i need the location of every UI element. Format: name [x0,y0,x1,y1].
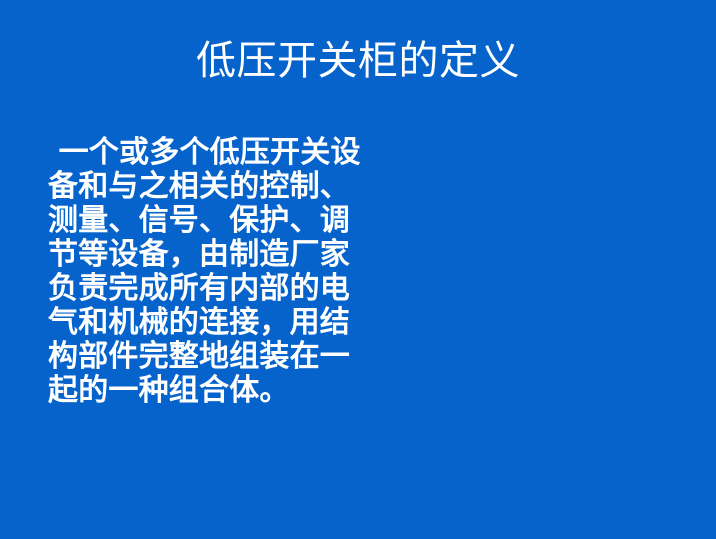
body-line: 构部件完整地组装在一 [48,340,358,374]
body-line: 节等设备，由制造厂家 [48,238,358,272]
body-line: 测量、信号、保护、调 [48,204,358,238]
body-line: 气和机械的连接，用结 [48,306,358,340]
body-line: 起的一种组合体。 [48,374,358,408]
presentation-slide: 低压开关柜的定义 一个或多个低压开关设 备和与之相关的控制、 测量、信号、保护、… [0,0,716,539]
body-line: 一个或多个低压开关设 [48,136,358,170]
slide-body-text: 一个或多个低压开关设 备和与之相关的控制、 测量、信号、保护、调 节等设备，由制… [48,136,358,408]
body-line: 负责完成所有内部的电 [48,272,358,306]
body-line: 备和与之相关的控制、 [48,170,358,204]
slide-title: 低压开关柜的定义 [0,38,716,84]
